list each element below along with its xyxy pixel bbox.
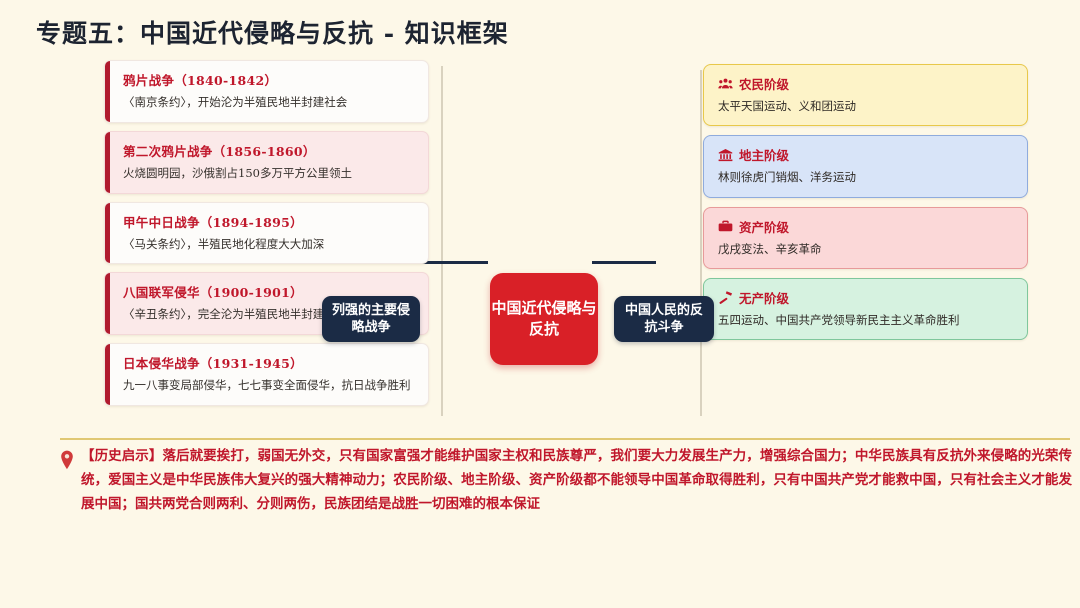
war-card-title: 鸦片战争（1840-1842）	[123, 70, 416, 89]
class-card-desc: 五四运动、中国共产党领导新民主主义革命胜利	[718, 312, 1015, 329]
briefcase-icon	[718, 219, 733, 233]
left-card-column: 鸦片战争（1840-1842） 〈南京条约〉，开始沦为半殖民地半封建社会 第二次…	[104, 60, 429, 414]
class-card[interactable]: 资产阶级 戊戌变法、辛亥革命	[703, 207, 1028, 269]
class-card-header: 地主阶级	[718, 145, 1015, 164]
hammer-icon	[718, 290, 733, 304]
war-card-title: 第二次鸦片战争（1856-1860）	[123, 141, 416, 160]
class-card-title: 无产阶级	[739, 288, 789, 307]
war-card-desc: 九一八事变局部侵华，七七事变全面侵华，抗日战争胜利	[123, 377, 416, 395]
section-divider	[60, 438, 1070, 440]
class-card-header: 资产阶级	[718, 217, 1015, 236]
historical-insight-text: 【历史启示】落后就要挨打，弱国无外交，只有国家富强才能维护国家主权和民族尊严，我…	[81, 444, 1072, 516]
class-card-title: 农民阶级	[739, 74, 789, 93]
right-connector-line	[592, 261, 656, 264]
class-card-title: 地主阶级	[739, 145, 789, 164]
slide-canvas: 专题五：中国近代侵略与反抗 - 知识框架 鸦片战争（1840-1842） 〈南京…	[0, 0, 1080, 608]
war-card[interactable]: 甲午中日战争（1894-1895） 〈马关条约〉，半殖民地化程度大大加深	[104, 202, 429, 265]
left-branch-node[interactable]: 列强的主要侵略战争	[322, 296, 420, 342]
center-node[interactable]: 中国近代侵略与反抗	[490, 273, 598, 365]
class-card-header: 无产阶级	[718, 288, 1015, 307]
class-card[interactable]: 无产阶级 五四运动、中国共产党领导新民主主义革命胜利	[703, 278, 1028, 340]
historical-insight-section: 【历史启示】落后就要挨打，弱国无外交，只有国家富强才能维护国家主权和民族尊严，我…	[60, 444, 1072, 516]
users-icon	[718, 77, 733, 91]
class-card-desc: 林则徐虎门销烟、洋务运动	[718, 169, 1015, 186]
right-card-column: 农民阶级 太平天国运动、义和团运动	[703, 64, 1028, 349]
class-card[interactable]: 农民阶级 太平天国运动、义和团运动	[703, 64, 1028, 126]
class-card-desc: 戊戌变法、辛亥革命	[718, 241, 1015, 258]
war-card-desc: 〈南京条约〉，开始沦为半殖民地半封建社会	[123, 94, 416, 112]
class-card-desc: 太平天国运动、义和团运动	[718, 98, 1015, 115]
left-branch-spine	[441, 66, 443, 416]
war-card[interactable]: 第二次鸦片战争（1856-1860） 火烧圆明园，沙俄割占150多万平方公里领土	[104, 131, 429, 194]
war-card[interactable]: 日本侵华战争（1931-1945） 九一八事变局部侵华，七七事变全面侵华，抗日战…	[104, 343, 429, 406]
war-card[interactable]: 鸦片战争（1840-1842） 〈南京条约〉，开始沦为半殖民地半封建社会	[104, 60, 429, 123]
pin-icon	[60, 450, 74, 470]
knowledge-framework-diagram: 鸦片战争（1840-1842） 〈南京条约〉，开始沦为半殖民地半封建社会 第二次…	[0, 56, 1080, 430]
class-card-header: 农民阶级	[718, 74, 1015, 93]
page-title: 专题五：中国近代侵略与反抗 - 知识框架	[36, 14, 509, 50]
class-card-title: 资产阶级	[739, 217, 789, 236]
class-card[interactable]: 地主阶级 林则徐虎门销烟、洋务运动	[703, 135, 1028, 197]
war-card-title: 甲午中日战争（1894-1895）	[123, 212, 416, 231]
war-card-title: 日本侵华战争（1931-1945）	[123, 353, 416, 372]
right-branch-node[interactable]: 中国人民的反抗斗争	[614, 296, 714, 342]
war-card-desc: 〈马关条约〉，半殖民地化程度大大加深	[123, 236, 416, 254]
war-card-desc: 火烧圆明园，沙俄割占150多万平方公里领土	[123, 165, 416, 183]
right-branch-spine	[700, 70, 702, 416]
bank-icon	[718, 148, 733, 162]
